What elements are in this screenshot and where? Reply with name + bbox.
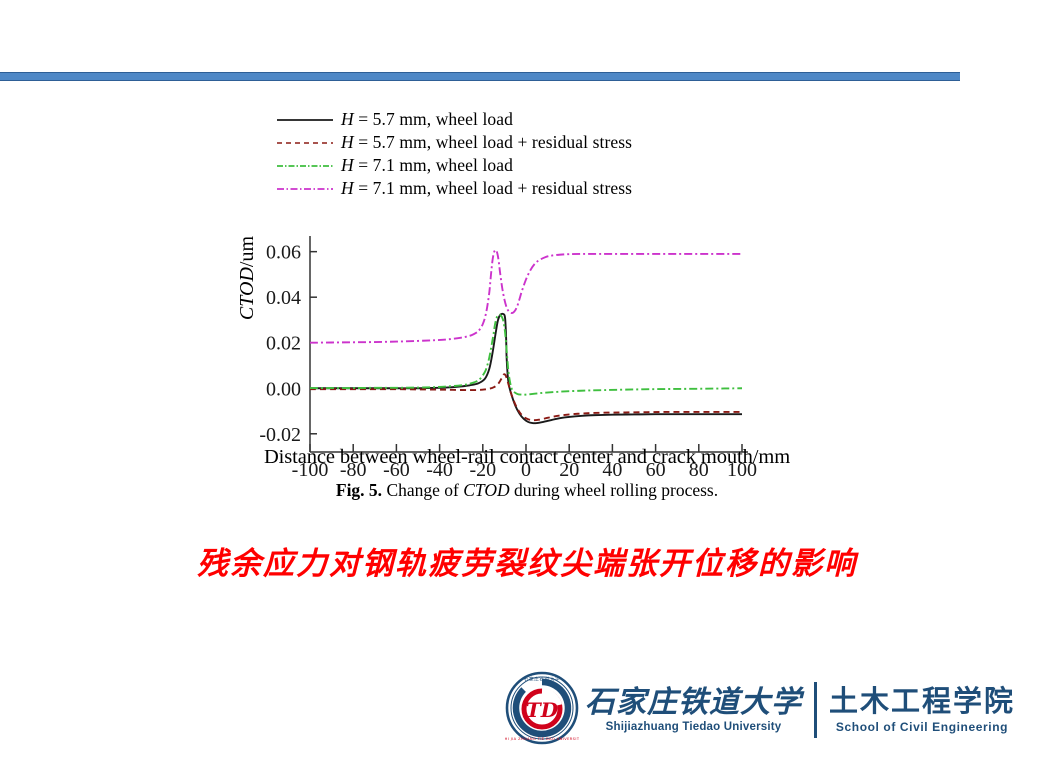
figure-caption-text-1: Change of <box>382 480 463 500</box>
university-name-block: 石家庄铁道大学 Shijiazhuang Tiedao University <box>585 687 802 734</box>
chart-legend: H = 5.7 mm, wheel load H = 5.7 mm, wheel… <box>276 108 746 200</box>
legend-symbol-h-2: H <box>341 155 354 175</box>
figure-caption-text-2: during wheel rolling process. <box>510 480 719 500</box>
svg-text:SHI JIA ZHUANG TIE DAO UNIVERS: SHI JIA ZHUANG TIE DAO UNIVERSITY <box>505 737 579 741</box>
legend-symbol-h-1: H <box>341 132 354 152</box>
svg-text:0.04: 0.04 <box>266 287 301 309</box>
legend-label-1: H = 5.7 mm, wheel load + residual stress <box>341 132 632 153</box>
legend-label-0: H = 5.7 mm, wheel load <box>341 109 513 130</box>
svg-text:0.00: 0.00 <box>266 378 301 400</box>
legend-desc-1: = 5.7 mm, wheel load + residual stress <box>354 132 632 152</box>
figure-caption-italic: CTOD <box>463 480 509 500</box>
slide-red-heading: 残余应力对钢轨疲劳裂纹尖端张开位移的影响 <box>0 538 1054 583</box>
figure-caption: Fig. 5. Change of CTOD during wheel roll… <box>0 480 1054 501</box>
svg-text:TD: TD <box>526 698 559 722</box>
legend-item-0: H = 5.7 mm, wheel load <box>276 108 746 131</box>
legend-line-dashdot-green-icon <box>276 159 334 173</box>
school-name-en: School of Civil Engineering <box>836 720 1008 734</box>
university-emblem-icon: TD 石家庄铁道大学 SHI JIA ZHUANG TIE DAO UNIVER… <box>505 671 579 750</box>
school-name-cn: 土木工程学院 <box>829 686 1015 716</box>
series-line-0 <box>310 314 742 423</box>
legend-desc-0: = 5.7 mm, wheel load <box>354 109 513 129</box>
legend-line-solid-icon <box>276 113 334 127</box>
chart-series-lines <box>310 250 742 423</box>
chart-plot-area: -0.020.000.020.040.06 -100-80-60-40-2002… <box>232 226 792 556</box>
series-line-1 <box>310 374 742 420</box>
legend-symbol-h-3: H <box>341 178 354 198</box>
school-name-block: 土木工程学院 School of Civil Engineering <box>829 686 1015 733</box>
legend-desc-2: = 7.1 mm, wheel load <box>354 155 513 175</box>
legend-line-dashed-icon <box>276 136 334 150</box>
legend-item-2: H = 7.1 mm, wheel load <box>276 154 746 177</box>
university-name-cn: 石家庄铁道大学 <box>585 687 802 719</box>
x-axis-title: Distance between wheel-rail contact cent… <box>0 446 1054 469</box>
series-line-3 <box>310 250 742 343</box>
university-name-en: Shijiazhuang Tiedao University <box>606 721 782 733</box>
svg-text:-0.02: -0.02 <box>259 424 301 446</box>
legend-desc-3: = 7.1 mm, wheel load + residual stress <box>354 178 632 198</box>
legend-item-1: H = 5.7 mm, wheel load + residual stress <box>276 131 746 154</box>
legend-label-3: H = 7.1 mm, wheel load + residual stress <box>341 178 632 199</box>
series-line-2 <box>310 315 742 395</box>
legend-symbol-h-0: H <box>341 109 354 129</box>
header-divider-rule <box>0 72 960 81</box>
legend-line-dashdot-magenta-icon <box>276 182 334 196</box>
y-tick-labels: -0.020.000.020.040.06 <box>259 242 301 446</box>
legend-label-2: H = 7.1 mm, wheel load <box>341 155 513 176</box>
svg-text:石家庄铁道大学: 石家庄铁道大学 <box>524 675 560 682</box>
svg-text:0.06: 0.06 <box>266 242 301 264</box>
footer-university-logo: TD 石家庄铁道大学 SHI JIA ZHUANG TIE DAO UNIVER… <box>505 668 1015 752</box>
figure-caption-number: Fig. 5. <box>336 480 382 500</box>
logo-divider <box>814 682 817 738</box>
svg-text:0.02: 0.02 <box>266 333 301 355</box>
legend-item-3: H = 7.1 mm, wheel load + residual stress <box>276 177 746 200</box>
